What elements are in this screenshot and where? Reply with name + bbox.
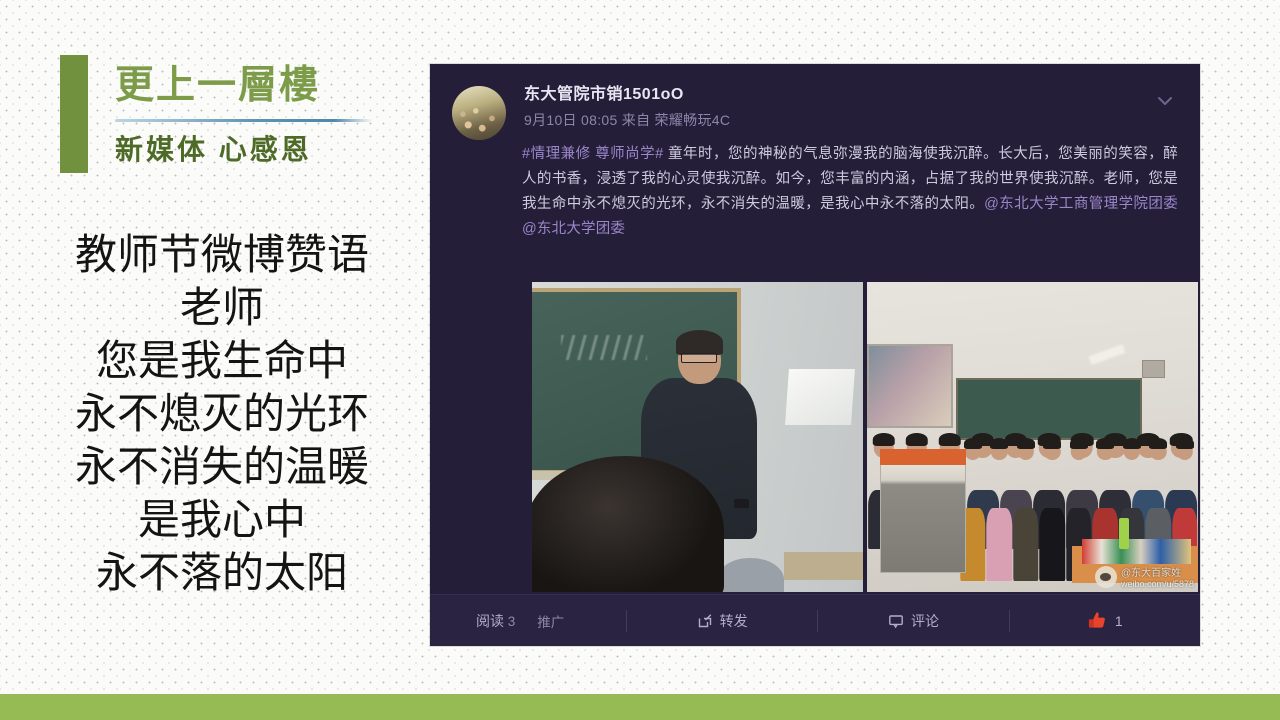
header-lockup: 更上一層樓 新媒体 心感恩 [60, 55, 390, 185]
promote-button[interactable]: 推广 [537, 611, 564, 631]
poem-line: 永不消失的温暖 [22, 440, 422, 493]
read-count-label: 阅读 3 [476, 611, 515, 631]
poem-block: 教师节微博赞语 老师 您是我生命中 永不熄灭的光环 永不消失的温暖 是我心中 永… [22, 228, 422, 599]
poster-name[interactable]: 东大管院市销1501oO [524, 84, 1182, 106]
comment-icon [888, 613, 904, 629]
comment-button[interactable]: 评论 [818, 610, 1008, 632]
post-hashtag[interactable]: #情理兼修 尊师尚学# [522, 146, 663, 162]
classroom-teacher-photo[interactable] [532, 282, 863, 592]
watermark-url: weibo.com/u/5878 [1121, 579, 1194, 590]
class-group-photo[interactable]: @东大百家姓 weibo.com/u/5878 [867, 282, 1198, 592]
post-photo-grid: @东大百家姓 weibo.com/u/5878 [532, 282, 1198, 592]
weibo-post-card: 东大管院市销1501oO 9月10日 08:05 来自 荣耀畅玩4C #情理兼修… [430, 64, 1200, 646]
post-timestamp: 9月10日 08:05 来自 荣耀畅玩4C [524, 109, 1182, 131]
like-button[interactable]: 1 [1010, 610, 1200, 632]
avatar[interactable] [452, 86, 506, 140]
watermark-handle: @东大百家姓 [1121, 564, 1194, 579]
post-action-bar: 阅读 3 推广 转发 [430, 594, 1200, 646]
chevron-down-icon[interactable] [1152, 88, 1178, 114]
page-title: 更上一層樓 [115, 55, 390, 117]
weibo-watermark: @东大百家姓 weibo.com/u/5878 [1095, 564, 1194, 590]
comment-label: 评论 [911, 611, 939, 631]
header-text-group: 更上一層樓 新媒体 心感恩 [115, 55, 390, 172]
poem-line: 是我心中 [22, 493, 422, 546]
poem-line: 您是我生命中 [22, 334, 422, 387]
read-label: 阅读 [476, 613, 504, 629]
poem-line: 老师 [22, 281, 422, 334]
forward-label: 转发 [720, 611, 748, 631]
post-body: #情理兼修 尊师尚学# 童年时，您的神秘的气息弥漫我的脑海使我沉醉。长大后，您美… [522, 142, 1178, 242]
poem-line: 永不落的太阳 [22, 546, 422, 599]
poem-line: 永不熄灭的光环 [22, 387, 422, 440]
read-count: 3 [504, 614, 515, 629]
page-subtitle: 新媒体 心感恩 [115, 128, 390, 172]
slide-canvas: 更上一層樓 新媒体 心感恩 教师节微博赞语 老师 您是我生命中 永不熄灭的光环 … [0, 0, 1280, 720]
forward-icon [697, 613, 713, 629]
bottom-accent-band [0, 694, 1280, 720]
weibo-eye-icon [1095, 566, 1117, 588]
forward-button[interactable]: 转发 [627, 610, 817, 632]
like-count: 1 [1115, 613, 1123, 629]
header-accent-bar [60, 55, 88, 173]
post-header: 东大管院市销1501oO 9月10日 08:05 来自 荣耀畅玩4C [430, 64, 1200, 140]
title-divider [115, 119, 373, 122]
poem-line: 教师节微博赞语 [22, 228, 422, 281]
thumbs-up-icon [1087, 610, 1108, 631]
poster-meta: 东大管院市销1501oO 9月10日 08:05 来自 荣耀畅玩4C [524, 80, 1182, 131]
read-and-promote: 阅读 3 推广 [430, 610, 626, 632]
